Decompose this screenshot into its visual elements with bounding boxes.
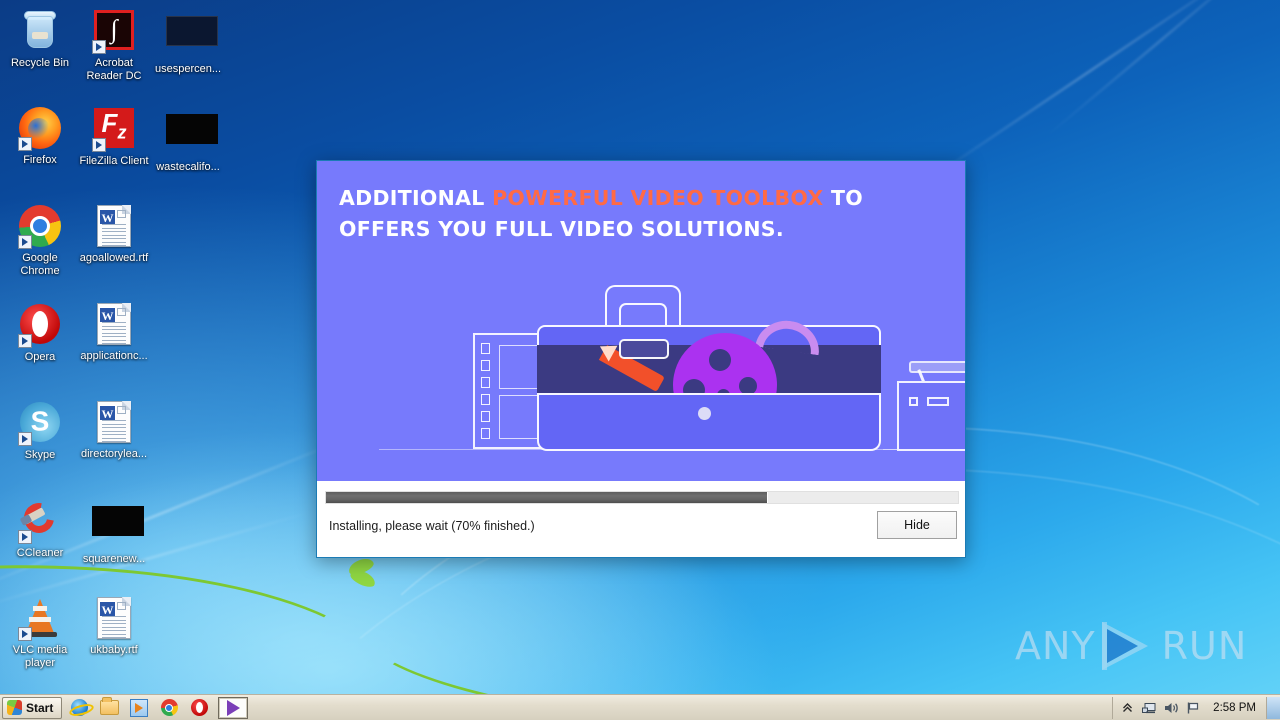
- show-desktop-button[interactable]: [1266, 697, 1280, 719]
- word-document-icon: W: [92, 205, 136, 249]
- quick-launch-file-explorer[interactable]: [96, 697, 122, 719]
- desktop-icon-label: squarenew...: [76, 553, 152, 566]
- shortcut-overlay-icon: [18, 334, 32, 348]
- headline-highlight: POWERFUL VIDEO TOOLBOX: [492, 186, 823, 210]
- file-explorer-icon: [100, 700, 119, 715]
- desktop-icon-agoallowed-rtf[interactable]: W agoallowed.rtf: [76, 204, 152, 265]
- desktop-icon-opera[interactable]: Opera: [2, 302, 78, 364]
- installer-window[interactable]: ADDITIONAL POWERFUL VIDEO TOOLBOX TO OFF…: [316, 160, 966, 558]
- toolbox-latch-icon: [619, 339, 669, 359]
- desktop-icon-applicationc[interactable]: W applicationc...: [76, 302, 152, 363]
- word-document-icon: W: [92, 597, 136, 641]
- headline-part-1: ADDITIONAL: [339, 186, 492, 210]
- black-rectangle-icon: [92, 506, 136, 550]
- desktop-icon-label: VLC media player: [2, 644, 78, 669]
- anyrun-watermark: ANY RUN: [1015, 618, 1265, 674]
- desktop-icon-label: Skype: [2, 449, 78, 462]
- show-hidden-icons-chevron-icon[interactable]: [1119, 700, 1135, 716]
- shortcut-overlay-icon: [18, 627, 32, 641]
- desktop-icon-label: applicationc...: [76, 350, 152, 363]
- network-icon[interactable]: [1141, 700, 1157, 716]
- shortcut-overlay-icon: [18, 432, 32, 446]
- opera-icon: [18, 304, 62, 348]
- ccleaner-icon: [18, 500, 62, 544]
- word-document-icon: W: [92, 401, 136, 445]
- camera-display-icon: [927, 397, 949, 406]
- quick-launch-internet-explorer[interactable]: [66, 697, 92, 719]
- desktop-icon-google-chrome[interactable]: Google Chrome: [2, 204, 78, 277]
- shortcut-overlay-icon: [92, 138, 106, 152]
- watermark-right-text: RUN: [1162, 624, 1248, 668]
- toolbox-knob-icon: [698, 407, 711, 420]
- chrome-icon: [18, 205, 62, 249]
- system-tray: 2:58 PM: [1112, 697, 1266, 719]
- headline-part-2: TO: [824, 186, 863, 210]
- desktop-icon-filezilla[interactable]: Fz FileZilla Client: [76, 106, 152, 168]
- promo-headline: ADDITIONAL POWERFUL VIDEO TOOLBOX TO OFF…: [339, 183, 941, 245]
- taskbar: Start: [0, 694, 1280, 720]
- toolbox-body-icon: [537, 393, 881, 451]
- volume-icon[interactable]: [1163, 700, 1179, 716]
- firefox-icon: [18, 107, 62, 151]
- desktop-icon-skype[interactable]: S Skype: [2, 400, 78, 462]
- desktop-icon-label: ukbaby.rtf: [76, 644, 152, 657]
- wallpaper-streak: [915, 0, 1264, 189]
- desktop-icon-label: Opera: [2, 351, 78, 364]
- headline-line-2: OFFERS YOU FULL VIDEO SOLUTIONS.: [339, 217, 784, 241]
- start-button-label: Start: [26, 701, 53, 715]
- desktop-icon-recycle-bin[interactable]: Recycle Bin: [2, 8, 78, 70]
- hide-button[interactable]: Hide: [877, 511, 957, 539]
- desktop-icon-squarenew[interactable]: squarenew...: [76, 498, 152, 566]
- recycle-bin-icon: [18, 10, 62, 54]
- internet-explorer-icon: [71, 699, 88, 716]
- shortcut-overlay-icon: [18, 137, 32, 151]
- skype-icon: S: [18, 402, 62, 446]
- acrobat-reader-icon: ∫: [92, 10, 136, 54]
- watermark-left-text: ANY: [1015, 624, 1096, 668]
- dark-file-icon: [166, 16, 210, 60]
- desktop-icon-usespercen[interactable]: usespercen...: [150, 8, 226, 76]
- desktop-icon-label: wastecalifo...: [150, 161, 226, 174]
- action-center-flag-icon[interactable]: [1185, 700, 1201, 716]
- desktop-icon-label: CCleaner: [2, 547, 78, 560]
- wallpaper-streak: [1044, 0, 1275, 138]
- opera-icon: [191, 699, 208, 716]
- taskbar-clock[interactable]: 2:58 PM: [1207, 702, 1262, 714]
- word-document-icon: W: [92, 303, 136, 347]
- desktop-icon-ccleaner[interactable]: CCleaner: [2, 498, 78, 560]
- promo-banner: ADDITIONAL POWERFUL VIDEO TOOLBOX TO OFF…: [317, 161, 965, 481]
- play-triangle-logo-icon: [1102, 622, 1156, 670]
- play-triangle-icon: [227, 700, 240, 716]
- progress-bar-fill: [326, 492, 768, 503]
- quick-launch-media-player[interactable]: [126, 697, 152, 719]
- desktop-icon-vlc-media-player[interactable]: VLC media player: [2, 596, 78, 669]
- desktop-icon-label: Recycle Bin: [2, 57, 78, 70]
- video-toolbox-illustration: [317, 281, 965, 481]
- vlc-icon: [18, 597, 62, 641]
- taskbar-item-installer[interactable]: [218, 697, 248, 719]
- desktop-icon-ukbaby-rtf[interactable]: W ukbaby.rtf: [76, 596, 152, 657]
- windows-media-player-icon: [130, 699, 148, 717]
- desktop-icon-label: FileZilla Client: [76, 155, 152, 168]
- desktop-icon-directorylea[interactable]: W directorylea...: [76, 400, 152, 461]
- start-button[interactable]: Start: [2, 697, 62, 719]
- shortcut-overlay-icon: [92, 40, 106, 54]
- installer-progress-area: Installing, please wait (70% finished.) …: [317, 481, 965, 557]
- camera-button-icon: [909, 397, 918, 406]
- progress-bar-track: [325, 491, 959, 504]
- desktop-icon-label: agoallowed.rtf: [76, 252, 152, 265]
- desktop-icon-label: Acrobat Reader DC: [76, 57, 152, 82]
- video-camera-icon: [897, 381, 965, 451]
- desktop-icon-label: Google Chrome: [2, 252, 78, 277]
- chrome-icon: [161, 699, 178, 716]
- desktop-icon-firefox[interactable]: Firefox: [2, 106, 78, 167]
- quick-launch-opera[interactable]: [186, 697, 212, 719]
- black-rectangle-icon: [166, 114, 210, 158]
- desktop-icon-label: directorylea...: [76, 448, 152, 461]
- desktop-icon-label: usespercen...: [150, 63, 226, 76]
- windows-logo-icon: [7, 700, 22, 715]
- quick-launch-chrome[interactable]: [156, 697, 182, 719]
- shortcut-overlay-icon: [18, 530, 32, 544]
- toolbox-handle-inner-icon: [619, 303, 667, 327]
- desktop-icon-label: Firefox: [2, 154, 78, 167]
- desktop-icon-wastecalifo[interactable]: wastecalifo...: [150, 106, 226, 174]
- shortcut-overlay-icon: [18, 235, 32, 249]
- filezilla-icon: Fz: [92, 108, 136, 152]
- desktop-icon-acrobat-reader[interactable]: ∫ Acrobat Reader DC: [76, 8, 152, 82]
- desktop-icon-grid: Recycle Bin ∫ Acrobat Reader DC usesperc…: [0, 0, 260, 690]
- installer-status-text: Installing, please wait (70% finished.): [329, 519, 535, 533]
